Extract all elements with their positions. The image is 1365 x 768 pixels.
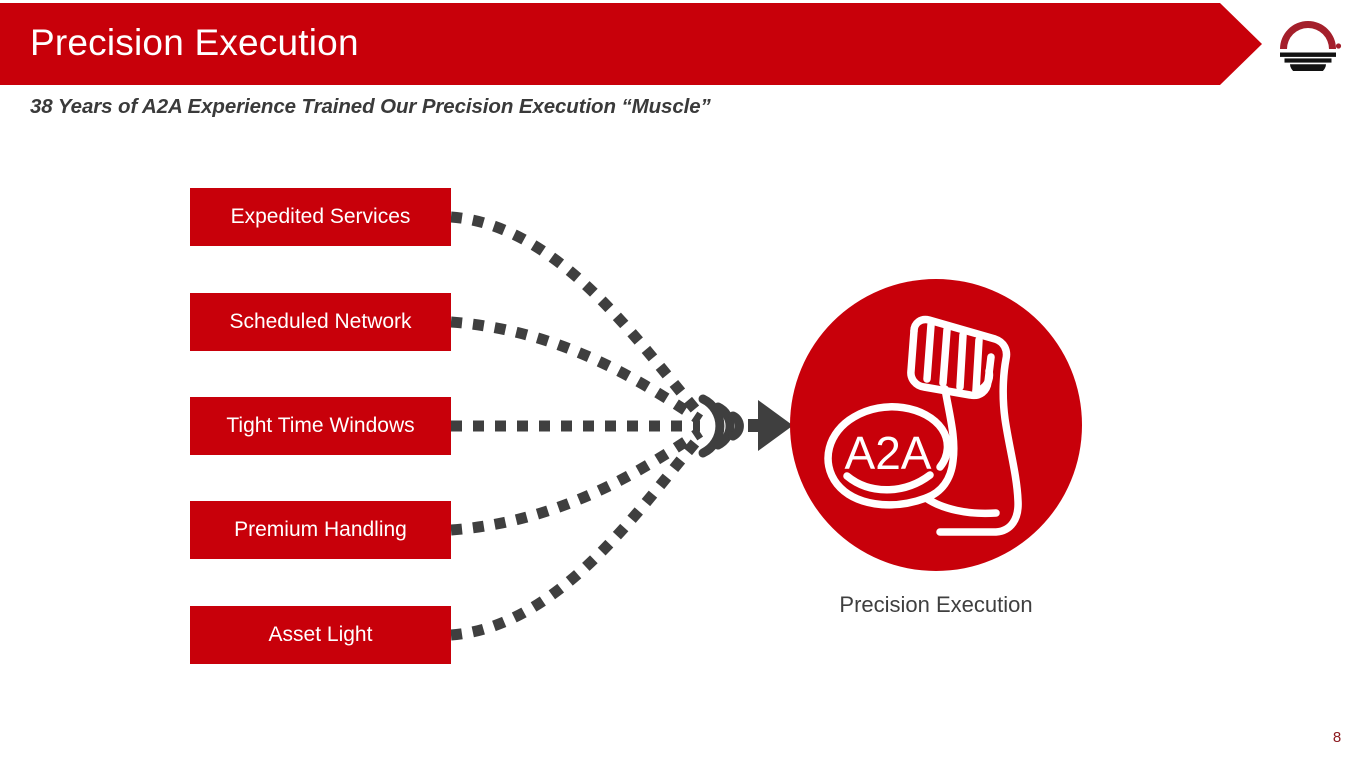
slide-number: 8 xyxy=(1325,729,1349,746)
connector-line-scheduled xyxy=(451,322,700,420)
finger-line-4 xyxy=(976,340,979,391)
driver-box-scheduled-network[interactable]: Scheduled Network xyxy=(190,293,451,351)
logo-bar-3 xyxy=(1290,64,1326,71)
driver-label: Asset Light xyxy=(269,623,373,647)
slide-subtitle: 38 Years of A2A Experience Trained Our P… xyxy=(30,95,711,119)
company-arch-logo xyxy=(1272,9,1344,71)
page-title: Precision Execution xyxy=(30,3,359,85)
logo-registered-mark xyxy=(1336,43,1341,48)
lower-arm-underside xyxy=(926,498,996,513)
converge-arc-inner xyxy=(733,416,739,436)
converge-arc-outer xyxy=(703,399,720,453)
driver-box-premium-handling[interactable]: Premium Handling xyxy=(190,501,451,559)
driver-box-expedited-services[interactable]: Expedited Services xyxy=(190,188,451,246)
finger-line-3 xyxy=(960,335,963,387)
finger-line-2 xyxy=(943,330,947,383)
finger-line-1 xyxy=(927,325,931,379)
connector-line-asset xyxy=(451,437,700,635)
arrowhead-tip xyxy=(758,400,793,451)
converging-arrowhead xyxy=(748,400,793,451)
hub-caption: Precision Execution xyxy=(790,592,1082,618)
arrowhead-stem xyxy=(748,419,766,432)
flexed-muscle-arm-icon xyxy=(828,320,1018,532)
driver-label: Premium Handling xyxy=(234,518,407,542)
precision-execution-hub-badge: A2A xyxy=(790,279,1082,571)
logo-arch-icon xyxy=(1280,21,1336,49)
driver-label: Expedited Services xyxy=(231,205,411,229)
connector-line-premium xyxy=(451,432,700,530)
driver-label: Tight Time Windows xyxy=(226,414,414,438)
hub-badge-text: A2A xyxy=(845,427,932,479)
logo-bar-2 xyxy=(1285,58,1332,62)
driver-box-tight-time-windows[interactable]: Tight Time Windows xyxy=(190,397,451,455)
connector-line-expedited xyxy=(451,217,700,415)
logo-bar-1 xyxy=(1280,53,1336,57)
driver-label: Scheduled Network xyxy=(229,310,411,334)
driver-box-asset-light[interactable]: Asset Light xyxy=(190,606,451,664)
converge-arc-middle xyxy=(718,407,730,445)
